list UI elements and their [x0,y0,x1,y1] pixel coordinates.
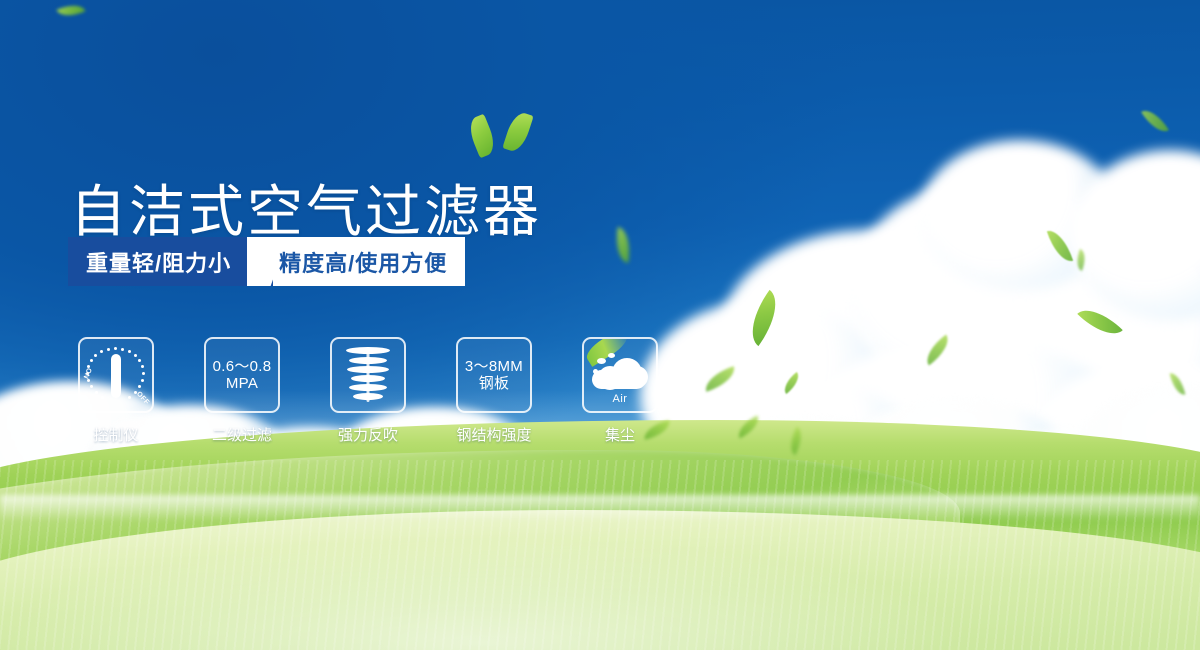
subtitle-strip: 重量轻/阻力小 精度高/使用方便 [68,237,465,286]
sprout-leaves-icon [470,108,540,160]
feature-icon-box: 0.6～0.8 MPA [204,337,280,413]
air-cloud-icon: Air [588,344,652,406]
feature-label: 集尘 [605,424,635,445]
feature-icon-box: NO OFF [78,337,154,413]
feature-item[interactable]: 0.6～0.8 MPA 二级过滤 [204,337,280,445]
feature-item[interactable]: 3～8MM 钢板 钢结构强度 [456,337,532,445]
feature-item[interactable]: NO OFF 控制仪 [78,337,154,445]
plate-material: 钢板 [465,375,523,392]
page-title: 自洁式空气过滤器 [70,184,542,240]
plate-icon: 3～8MM 钢板 [465,358,523,393]
feature-label: 控制仪 [93,424,138,445]
feature-item[interactable]: Air 集尘 [582,337,658,445]
banner-content: 自洁式空气过滤器 重量轻/阻力小 精度高/使用方便 [0,0,1200,650]
pressure-unit: MPA [213,375,272,392]
pressure-icon: 0.6～0.8 MPA [213,358,272,393]
air-label: Air [588,393,652,405]
feature-item[interactable]: 强力反吹 [330,337,406,445]
subtitle-right: 精度高/使用方便 [273,237,465,286]
feature-label: 二级过滤 [212,424,272,445]
feature-icon-box: Air [582,337,658,413]
coil-icon [340,344,396,406]
subtitle-left: 重量轻/阻力小 [68,237,247,286]
feature-icon-box [330,337,406,413]
feature-list: NO OFF 控制仪 0.6～0.8 MPA 二级过滤 [78,337,658,445]
gauge-icon: NO OFF [83,344,149,406]
feature-icon-box: 3～8MM 钢板 [456,337,532,413]
plate-thickness: 3～8MM [465,358,523,375]
feature-label: 钢结构强度 [456,424,531,445]
gauge-off-label: OFF [135,391,150,407]
pressure-range: 0.6～0.8 [213,358,272,375]
feature-label: 强力反吹 [338,424,398,445]
subtitle-divider-icon [247,237,273,286]
air-filter-banner: 自洁式空气过滤器 重量轻/阻力小 精度高/使用方便 [0,0,1200,650]
gauge-no-label: NO [83,367,94,380]
